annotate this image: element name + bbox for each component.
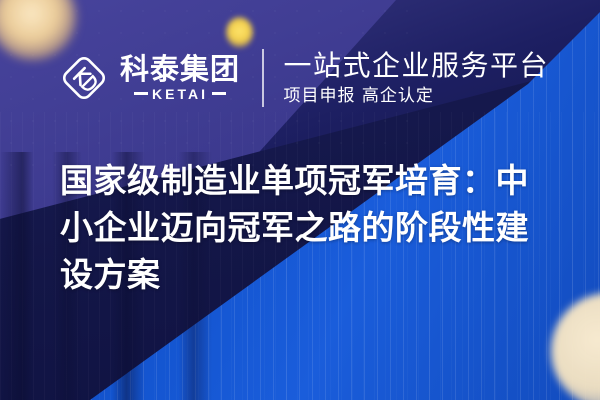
header-divider	[262, 49, 264, 107]
tagline-group: 一站式企业服务平台 项目申报 高企认定	[284, 51, 550, 105]
tagline-sub: 项目申报 高企认定	[284, 87, 550, 106]
banner-header: 科泰集团 KETAI 一站式企业服务平台 项目申报 高企认定	[58, 45, 549, 111]
page-title: 国家级制造业单项冠军培育：中小企业迈向冠军之路的阶段性建设方案	[60, 158, 552, 299]
promo-banner: 科泰集团 KETAI 一站式企业服务平台 项目申报 高企认定 国家级制造业单项冠…	[0, 0, 600, 400]
logo-name-cn: 科泰集团	[120, 55, 240, 85]
logo-wordmark: 科泰集团 KETAI	[120, 55, 240, 101]
logo-name-en-text: KETAI	[152, 87, 208, 101]
logo-name-en: KETAI	[120, 87, 240, 101]
tagline-main: 一站式企业服务平台	[284, 51, 550, 82]
logo-dash-right-icon	[212, 92, 226, 95]
logo-dash-left-icon	[134, 92, 148, 95]
ketai-diamond-monogram-icon	[58, 52, 110, 104]
